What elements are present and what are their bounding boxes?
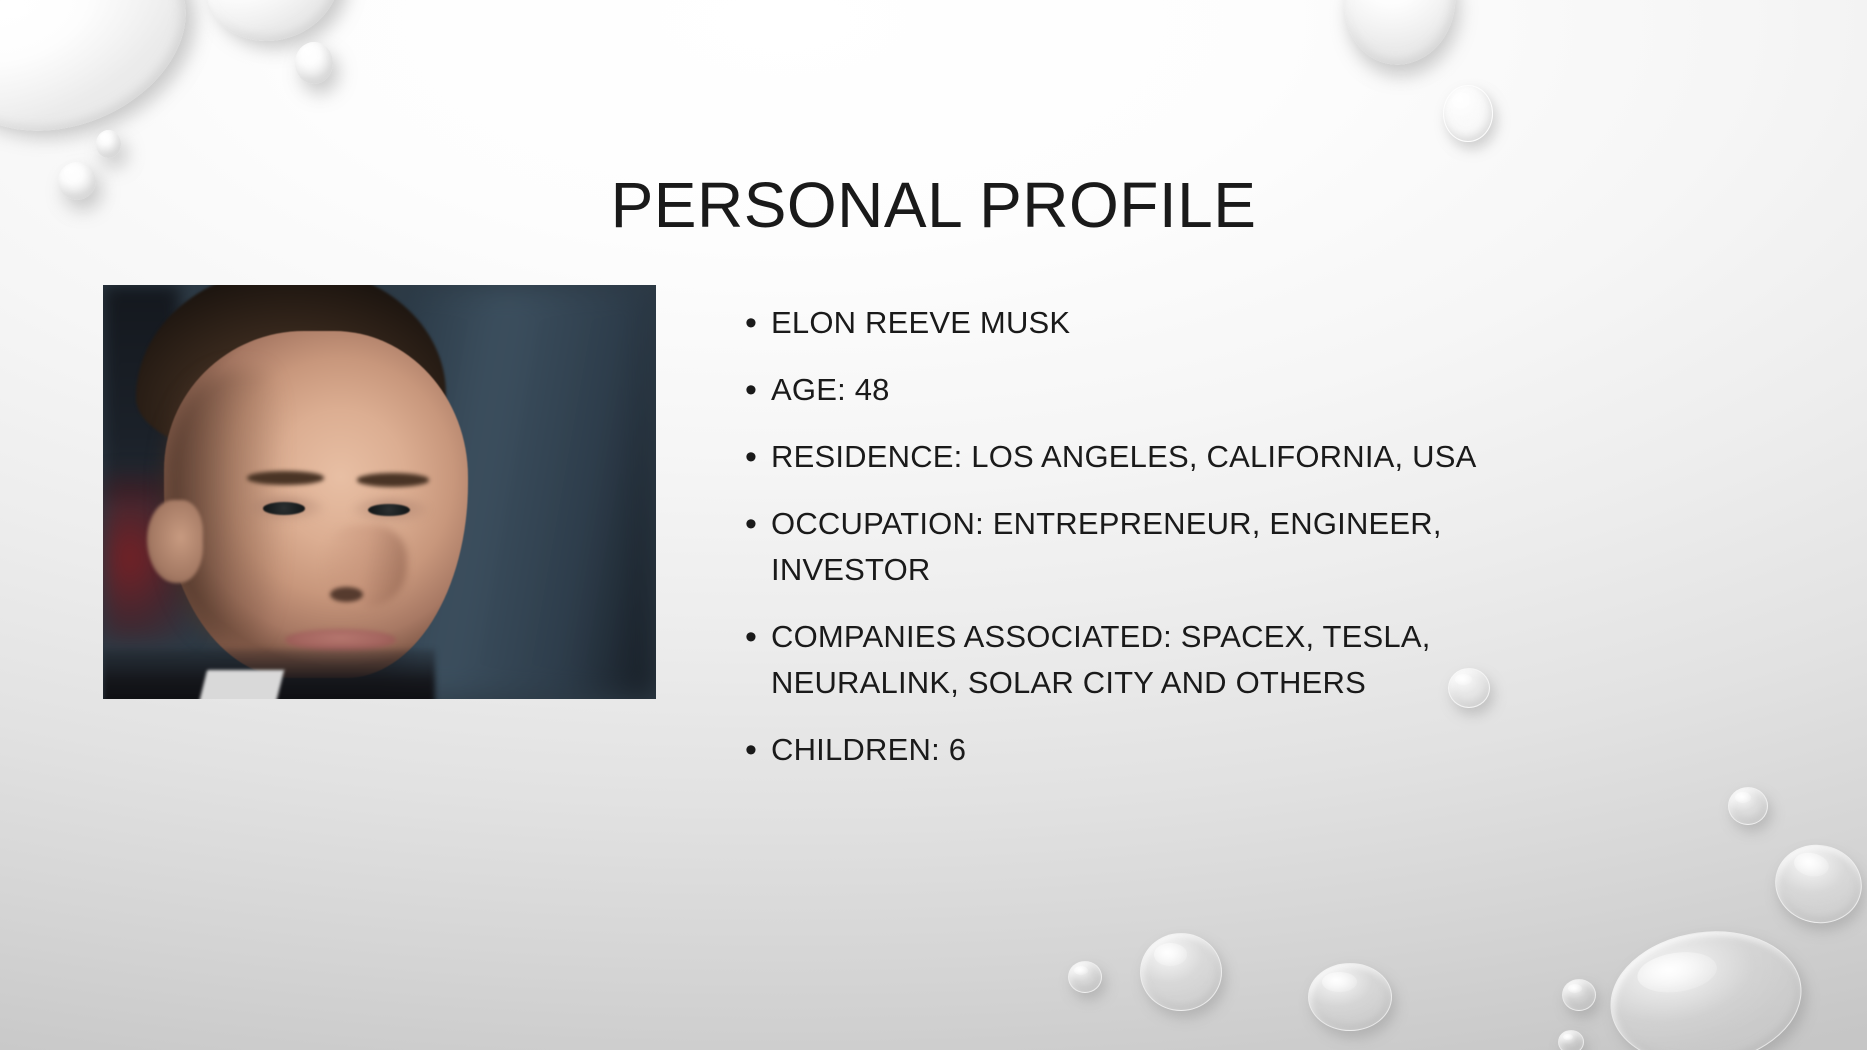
droplet-bottom-right-b-icon xyxy=(1768,837,1867,931)
page-title: PERSONAL PROFILE xyxy=(611,171,1257,240)
droplet-bottom-center-d-icon xyxy=(1308,963,1392,1031)
photo-ear xyxy=(147,500,202,583)
list-item-label: AGE: 48 xyxy=(771,367,1505,413)
photo-collar xyxy=(198,670,284,699)
list-item[interactable]: •OCCUPATION: ENTREPRENEUR, ENGINEER, INV… xyxy=(745,501,1505,593)
droplet-bottom-center-c-icon xyxy=(1140,933,1222,1011)
bullet-marker-icon: • xyxy=(745,614,771,660)
droplet-top-left-second-icon xyxy=(191,0,355,58)
title-placeholder[interactable]: PERSONAL PROFILE xyxy=(0,128,1867,283)
droplet-bottom-right-c-icon xyxy=(1602,919,1811,1050)
list-item[interactable]: •ELON REEVE MUSK xyxy=(745,300,1505,346)
bullet-marker-icon: • xyxy=(745,434,771,480)
photo-nostril xyxy=(330,587,363,602)
droplet-bottom-right-a-icon xyxy=(1728,787,1768,825)
list-item[interactable]: •AGE: 48 xyxy=(745,367,1505,413)
list-item-label: ELON REEVE MUSK xyxy=(771,300,1505,346)
portrait-photo[interactable] xyxy=(103,285,656,699)
list-item[interactable]: •RESIDENCE: LOS ANGELES, CALIFORNIA, USA xyxy=(745,434,1505,480)
list-item-label: RESIDENCE: LOS ANGELES, CALIFORNIA, USA xyxy=(771,434,1505,480)
droplet-bottom-right-d-icon xyxy=(1562,979,1596,1011)
photo-eyebrow-right xyxy=(357,473,429,486)
list-item-label: COMPANIES ASSOCIATED: SPACEX, TESLA, NEU… xyxy=(771,614,1505,706)
photo-eye-right xyxy=(368,504,409,516)
photo-eye-left xyxy=(263,502,304,514)
droplet-top-left-small-icon xyxy=(295,42,333,84)
bullet-marker-icon: • xyxy=(745,727,771,773)
droplet-top-right-a-icon xyxy=(1333,0,1467,75)
list-item-label: CHILDREN: 6 xyxy=(771,727,1505,773)
photo-eyebrow-left xyxy=(247,471,324,484)
list-item[interactable]: •COMPANIES ASSOCIATED: SPACEX, TESLA, NE… xyxy=(745,614,1505,706)
droplet-bottom-right-e-icon xyxy=(1558,1030,1584,1050)
list-item-label: OCCUPATION: ENTREPRENEUR, ENGINEER, INVE… xyxy=(771,501,1505,593)
bullet-marker-icon: • xyxy=(745,501,771,547)
content-placeholder[interactable]: •ELON REEVE MUSK•AGE: 48•RESIDENCE: LOS … xyxy=(745,300,1505,794)
bullet-marker-icon: • xyxy=(745,300,771,346)
droplet-bottom-center-b-icon xyxy=(1068,961,1102,993)
bullet-marker-icon: • xyxy=(745,367,771,413)
presentation-slide: PERSONAL PROFILE •ELON REEVE MUSK•AGE: 4… xyxy=(0,0,1867,1050)
list-item[interactable]: •CHILDREN: 6 xyxy=(745,727,1505,773)
